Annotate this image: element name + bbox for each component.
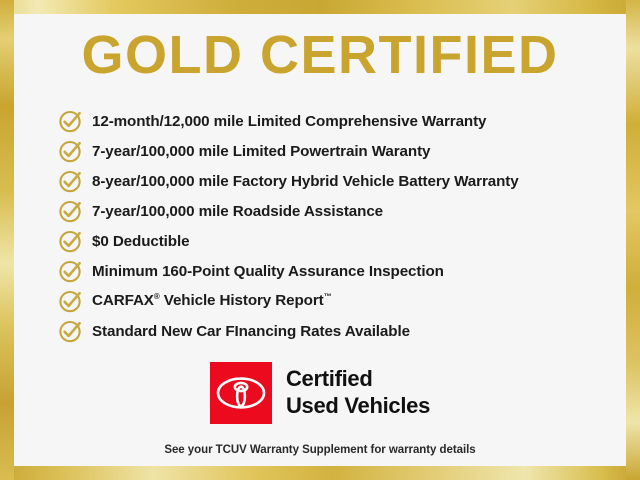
list-item-label: 8-year/100,000 mile Factory Hybrid Vehic… [92, 173, 519, 190]
trademark-mark: ™ [324, 292, 332, 301]
list-item: Standard New Car FInancing Rates Availab… [58, 316, 618, 346]
list-item-label: CARFAX® Vehicle History Report™ [92, 292, 332, 309]
card-inner-panel: GOLD CERTIFIED 12-month/12,000 mile Limi… [14, 14, 626, 466]
list-item-label: 12-month/12,000 mile Limited Comprehensi… [92, 113, 486, 130]
lockup-line-1: Certified [286, 366, 430, 393]
gold-border-top [0, 0, 640, 14]
gold-check-circle-icon [58, 108, 84, 134]
list-item: Minimum 160-Point Quality Assurance Insp… [58, 256, 618, 286]
list-item: $0 Deductible [58, 226, 618, 256]
lockup-text: Certified Used Vehicles [286, 366, 430, 420]
gold-certified-card: GOLD CERTIFIED 12-month/12,000 mile Limi… [0, 0, 640, 480]
lockup-line-2: Used Vehicles [286, 393, 430, 420]
list-item-label: $0 Deductible [92, 233, 189, 250]
gold-check-circle-icon [58, 288, 84, 314]
gold-check-circle-icon [58, 198, 84, 224]
gold-border-right [626, 0, 640, 480]
feature-list: 12-month/12,000 mile Limited Comprehensi… [58, 106, 618, 346]
list-item: 8-year/100,000 mile Factory Hybrid Vehic… [58, 166, 618, 196]
warranty-footnote: See your TCUV Warranty Supplement for wa… [14, 444, 626, 456]
carfax-wordmark: CARFAX [92, 293, 154, 310]
list-item-label: Minimum 160-Point Quality Assurance Insp… [92, 263, 444, 280]
list-item-label: Standard New Car FInancing Rates Availab… [92, 323, 410, 340]
gold-check-circle-icon [58, 258, 84, 284]
list-item-label: 7-year/100,000 mile Roadside Assistance [92, 203, 383, 220]
gold-check-circle-icon [58, 318, 84, 344]
list-item: 7-year/100,000 mile Limited Powertrain W… [58, 136, 618, 166]
toyota-certified-lockup: Certified Used Vehicles [14, 362, 626, 424]
list-item: 7-year/100,000 mile Roadside Assistance [58, 196, 618, 226]
gold-check-circle-icon [58, 168, 84, 194]
toyota-emblem [210, 362, 272, 424]
list-item-label: 7-year/100,000 mile Limited Powertrain W… [92, 143, 430, 160]
gold-check-circle-icon [58, 228, 84, 254]
list-item: CARFAX® Vehicle History Report™ [58, 286, 618, 316]
toyota-emblem-icon [216, 376, 266, 410]
list-item: 12-month/12,000 mile Limited Comprehensi… [58, 106, 618, 136]
gold-border-bottom [0, 466, 640, 480]
gold-border-left [0, 0, 14, 480]
page-title: GOLD CERTIFIED [14, 28, 626, 82]
gold-check-circle-icon [58, 138, 84, 164]
carfax-rest: Vehicle History Report [160, 293, 324, 310]
